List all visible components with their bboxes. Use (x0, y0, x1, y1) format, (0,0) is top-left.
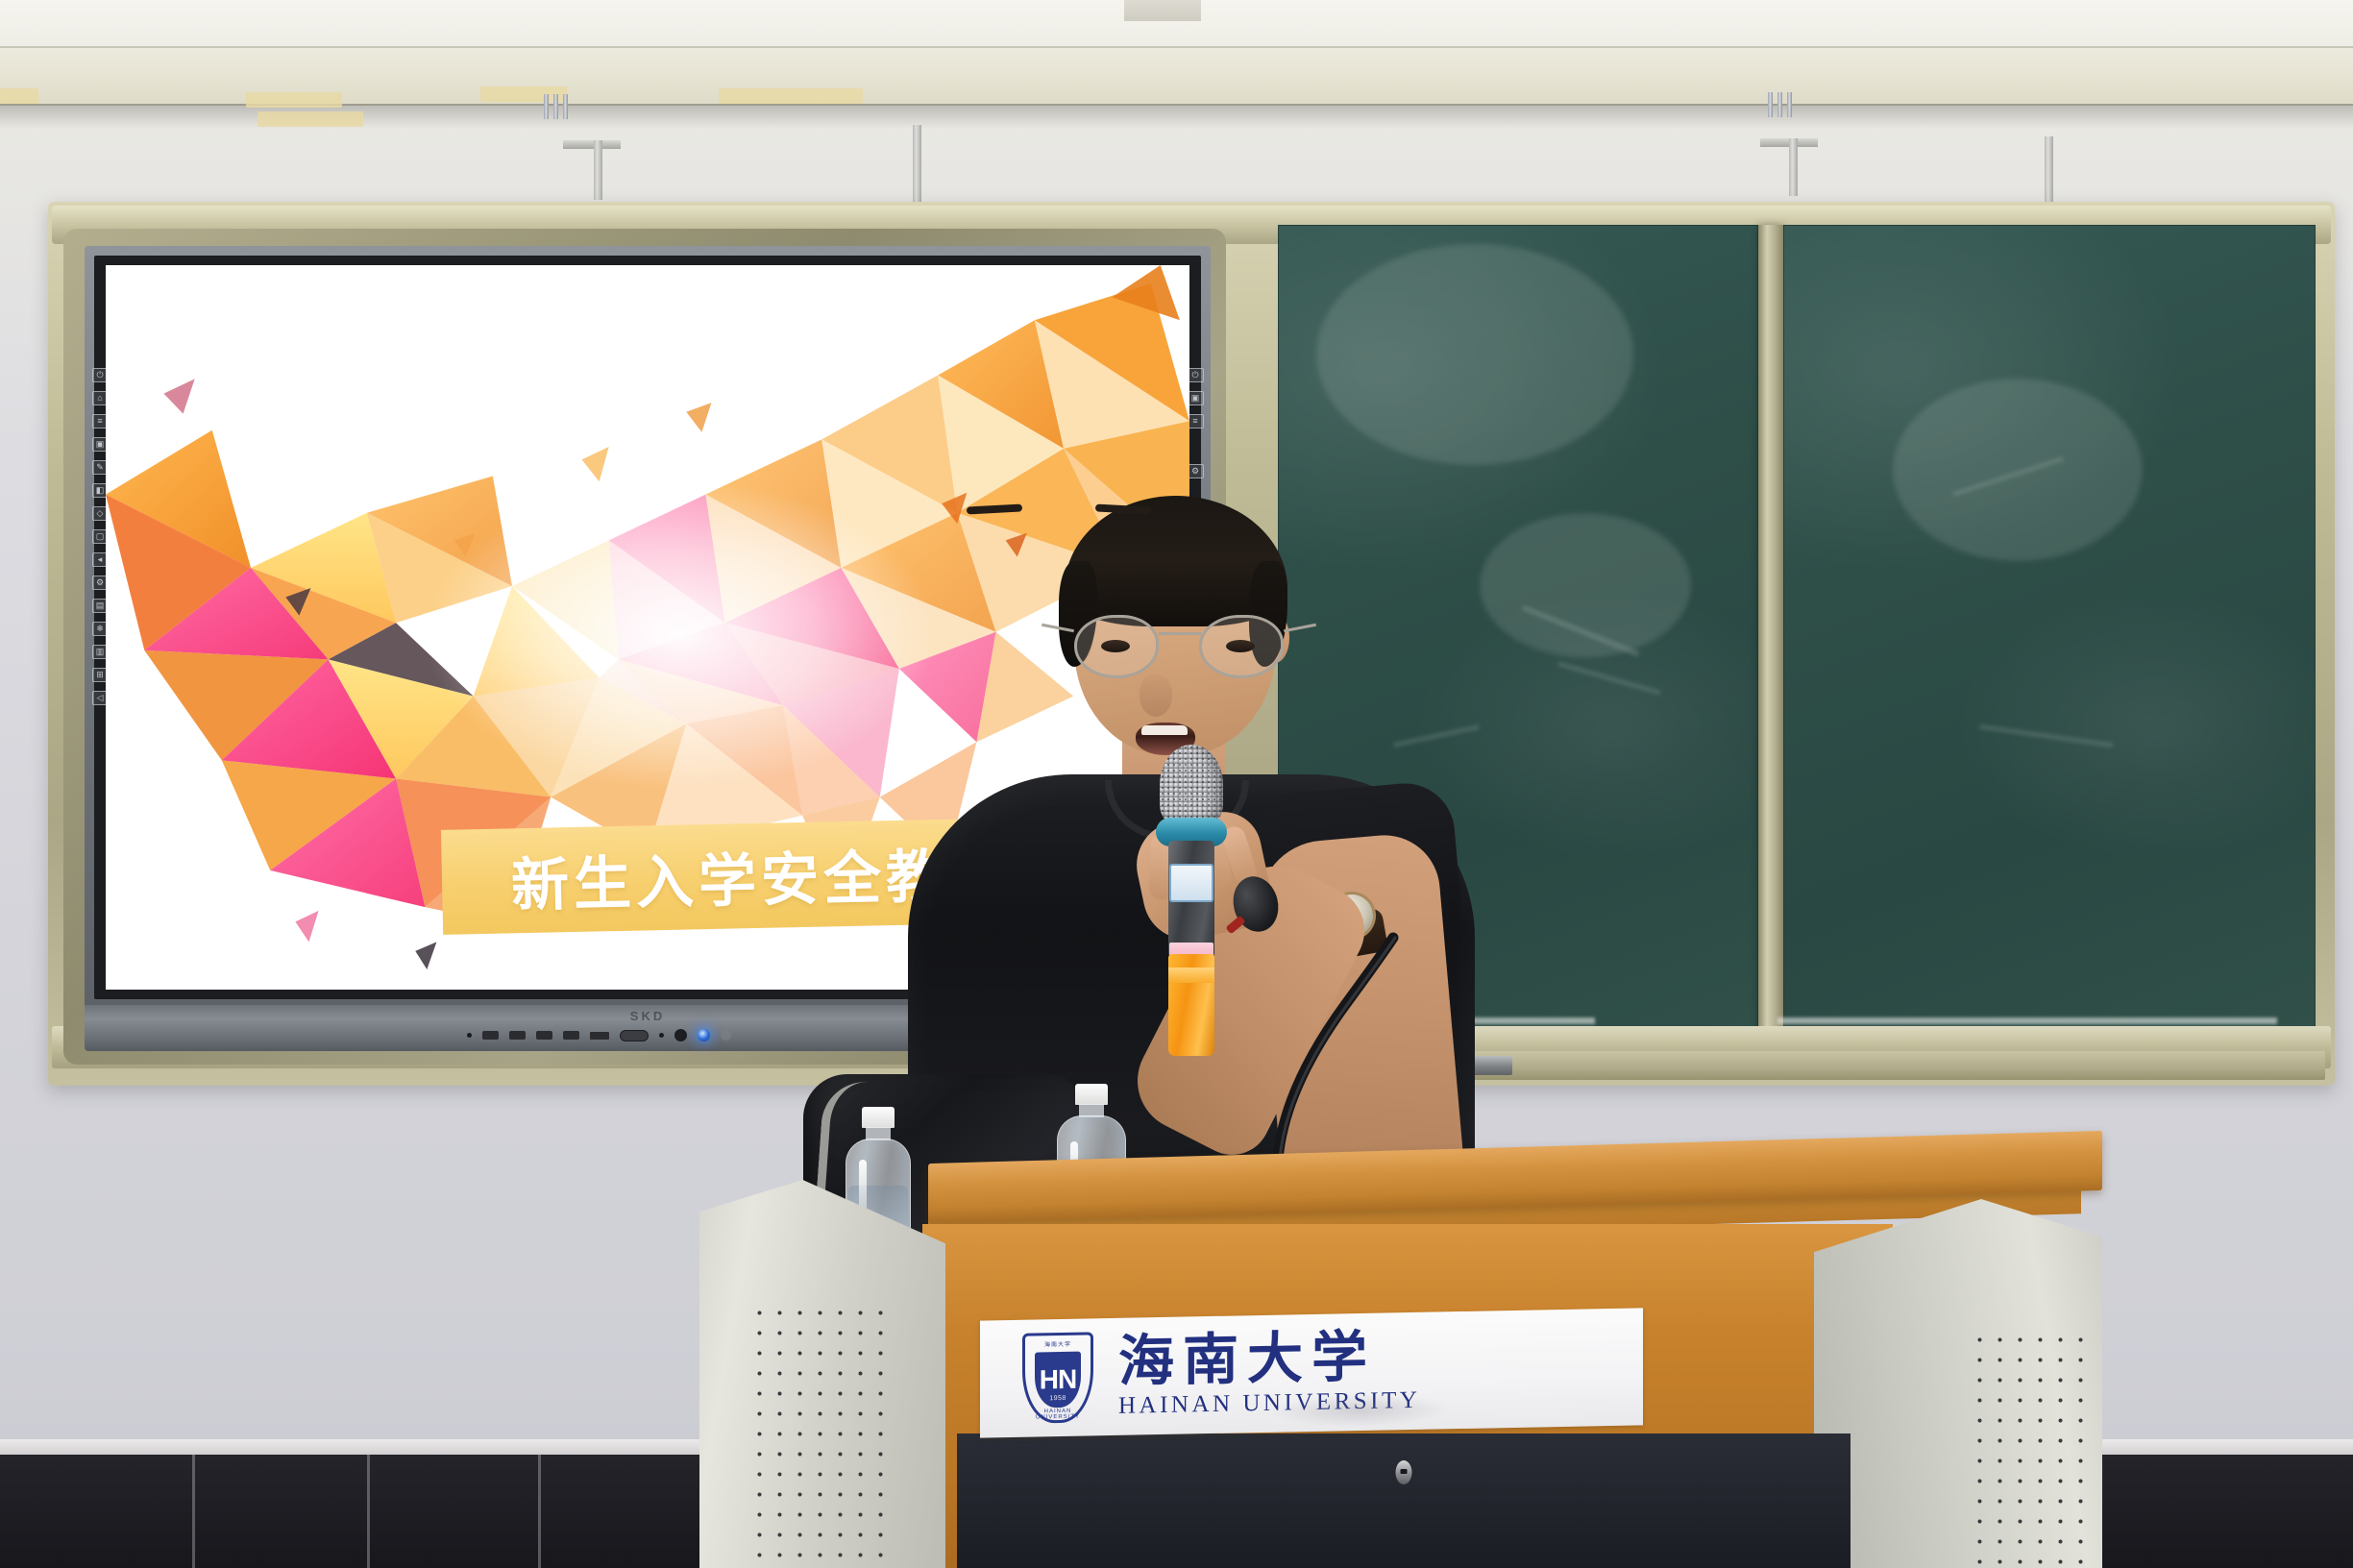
usb-port-icon[interactable] (536, 1031, 552, 1040)
plaque-smudge (1268, 1392, 1451, 1429)
cable-clip (1768, 92, 1773, 117)
soffit-band (0, 46, 2353, 106)
microphone-grille-icon (1160, 745, 1223, 825)
power-led-icon (698, 1029, 710, 1041)
hdmi-port-icon[interactable] (590, 1032, 609, 1040)
ceiling-bracket-plate (563, 140, 621, 149)
tile-seam (538, 1455, 541, 1568)
eye-left (1101, 640, 1130, 652)
glasses-temple-right (1284, 624, 1316, 632)
cable-clip (563, 94, 568, 119)
chalkboard-panel-right (1783, 225, 2316, 1034)
cable-clip-group (544, 94, 568, 119)
microphone-label-blue (1169, 864, 1213, 902)
podium-right-speaker-panel (1814, 1199, 2102, 1568)
cable-clip (1777, 92, 1782, 117)
tile-seam (367, 1455, 370, 1568)
lectern-podium: 海南大学 HN 1958 HAINAN UNIVERSITY 海南大学 HAIN… (699, 1174, 2102, 1568)
input-icon[interactable]: ▣ (1188, 391, 1204, 405)
cable-clip (544, 94, 549, 119)
tile-seam (192, 1455, 195, 1568)
university-name-chinese: 海南大学 (1118, 1328, 1420, 1390)
podium-cabinet-door[interactable] (957, 1433, 1851, 1568)
vga-port-icon[interactable] (620, 1030, 649, 1041)
cable-clip (1787, 92, 1792, 117)
tape-residue-mark (257, 111, 363, 127)
microphone-mesh (1160, 745, 1223, 825)
eyeglasses (1070, 615, 1289, 678)
shield-arc-bottom-text: HAINAN UNIVERSITY (1022, 1408, 1093, 1420)
smartboard-brand-label: SKD (630, 1009, 665, 1023)
chalk-smudge (1893, 379, 2143, 561)
tape-residue-mark (0, 88, 38, 104)
eye-right (1226, 640, 1255, 652)
eyebrow-right (1095, 503, 1151, 514)
tape-residue-mark (719, 88, 863, 104)
cable-clip-group (1768, 92, 1792, 117)
shield-arc-top-text: 海南大学 (1022, 1338, 1093, 1348)
chalkboard-divider (1758, 225, 1783, 1034)
chalk-dust (1777, 1017, 2277, 1024)
audio-jack-icon[interactable] (674, 1029, 687, 1041)
indicator-dot (659, 1033, 664, 1038)
speaker-perforations (1970, 1330, 2087, 1568)
speaker-perforations (749, 1303, 884, 1562)
cable-clip (553, 94, 558, 119)
university-shield-logo: 海南大学 HN 1958 HAINAN UNIVERSITY (1022, 1332, 1093, 1423)
ir-sensor-icon (721, 1030, 731, 1041)
menu-icon[interactable]: ≡ (1188, 414, 1204, 429)
bottle-cap-icon (862, 1107, 895, 1128)
ceiling-bracket (913, 125, 921, 211)
glasses-bridge (1159, 632, 1201, 635)
slide-title: 新生入学安全教 (510, 830, 949, 923)
tape-residue-mark (246, 92, 342, 108)
settings-icon[interactable]: ⚙ (1188, 464, 1204, 478)
usb-port-icon[interactable] (509, 1031, 526, 1040)
smartboard-port-row[interactable] (467, 1029, 731, 1041)
bottle-cap-icon (1075, 1084, 1108, 1105)
cabinet-lock-icon[interactable] (1396, 1460, 1412, 1484)
teeth (1141, 725, 1188, 735)
power-icon[interactable]: ⏻ (1188, 368, 1204, 382)
usb-port-icon[interactable] (563, 1031, 579, 1040)
indicator-dot (467, 1033, 472, 1038)
shield-founding-year: 1958 (1022, 1394, 1093, 1402)
eyebrow-left (967, 503, 1022, 514)
shield-initials: HN (1040, 1364, 1076, 1396)
podium-left-speaker-panel (699, 1180, 945, 1568)
ceiling-mount-box (1124, 0, 1201, 21)
chalk-smudge (1316, 244, 1633, 465)
university-plaque: 海南大学 HN 1958 HAINAN UNIVERSITY 海南大学 HAIN… (980, 1308, 1643, 1437)
nose (1140, 674, 1172, 717)
ceiling-bracket (1789, 138, 1798, 196)
usb-port-icon[interactable] (482, 1031, 499, 1040)
ceiling-bracket (594, 140, 602, 200)
classroom-photo: ⏻ ⌂ ≡ ▣ ✎ ◧ ◇ ▢ ◂ ⚙ ▤ ❄ ▥ ⊞ ◁ ⏻ ▣ ≡ (0, 0, 2353, 1568)
